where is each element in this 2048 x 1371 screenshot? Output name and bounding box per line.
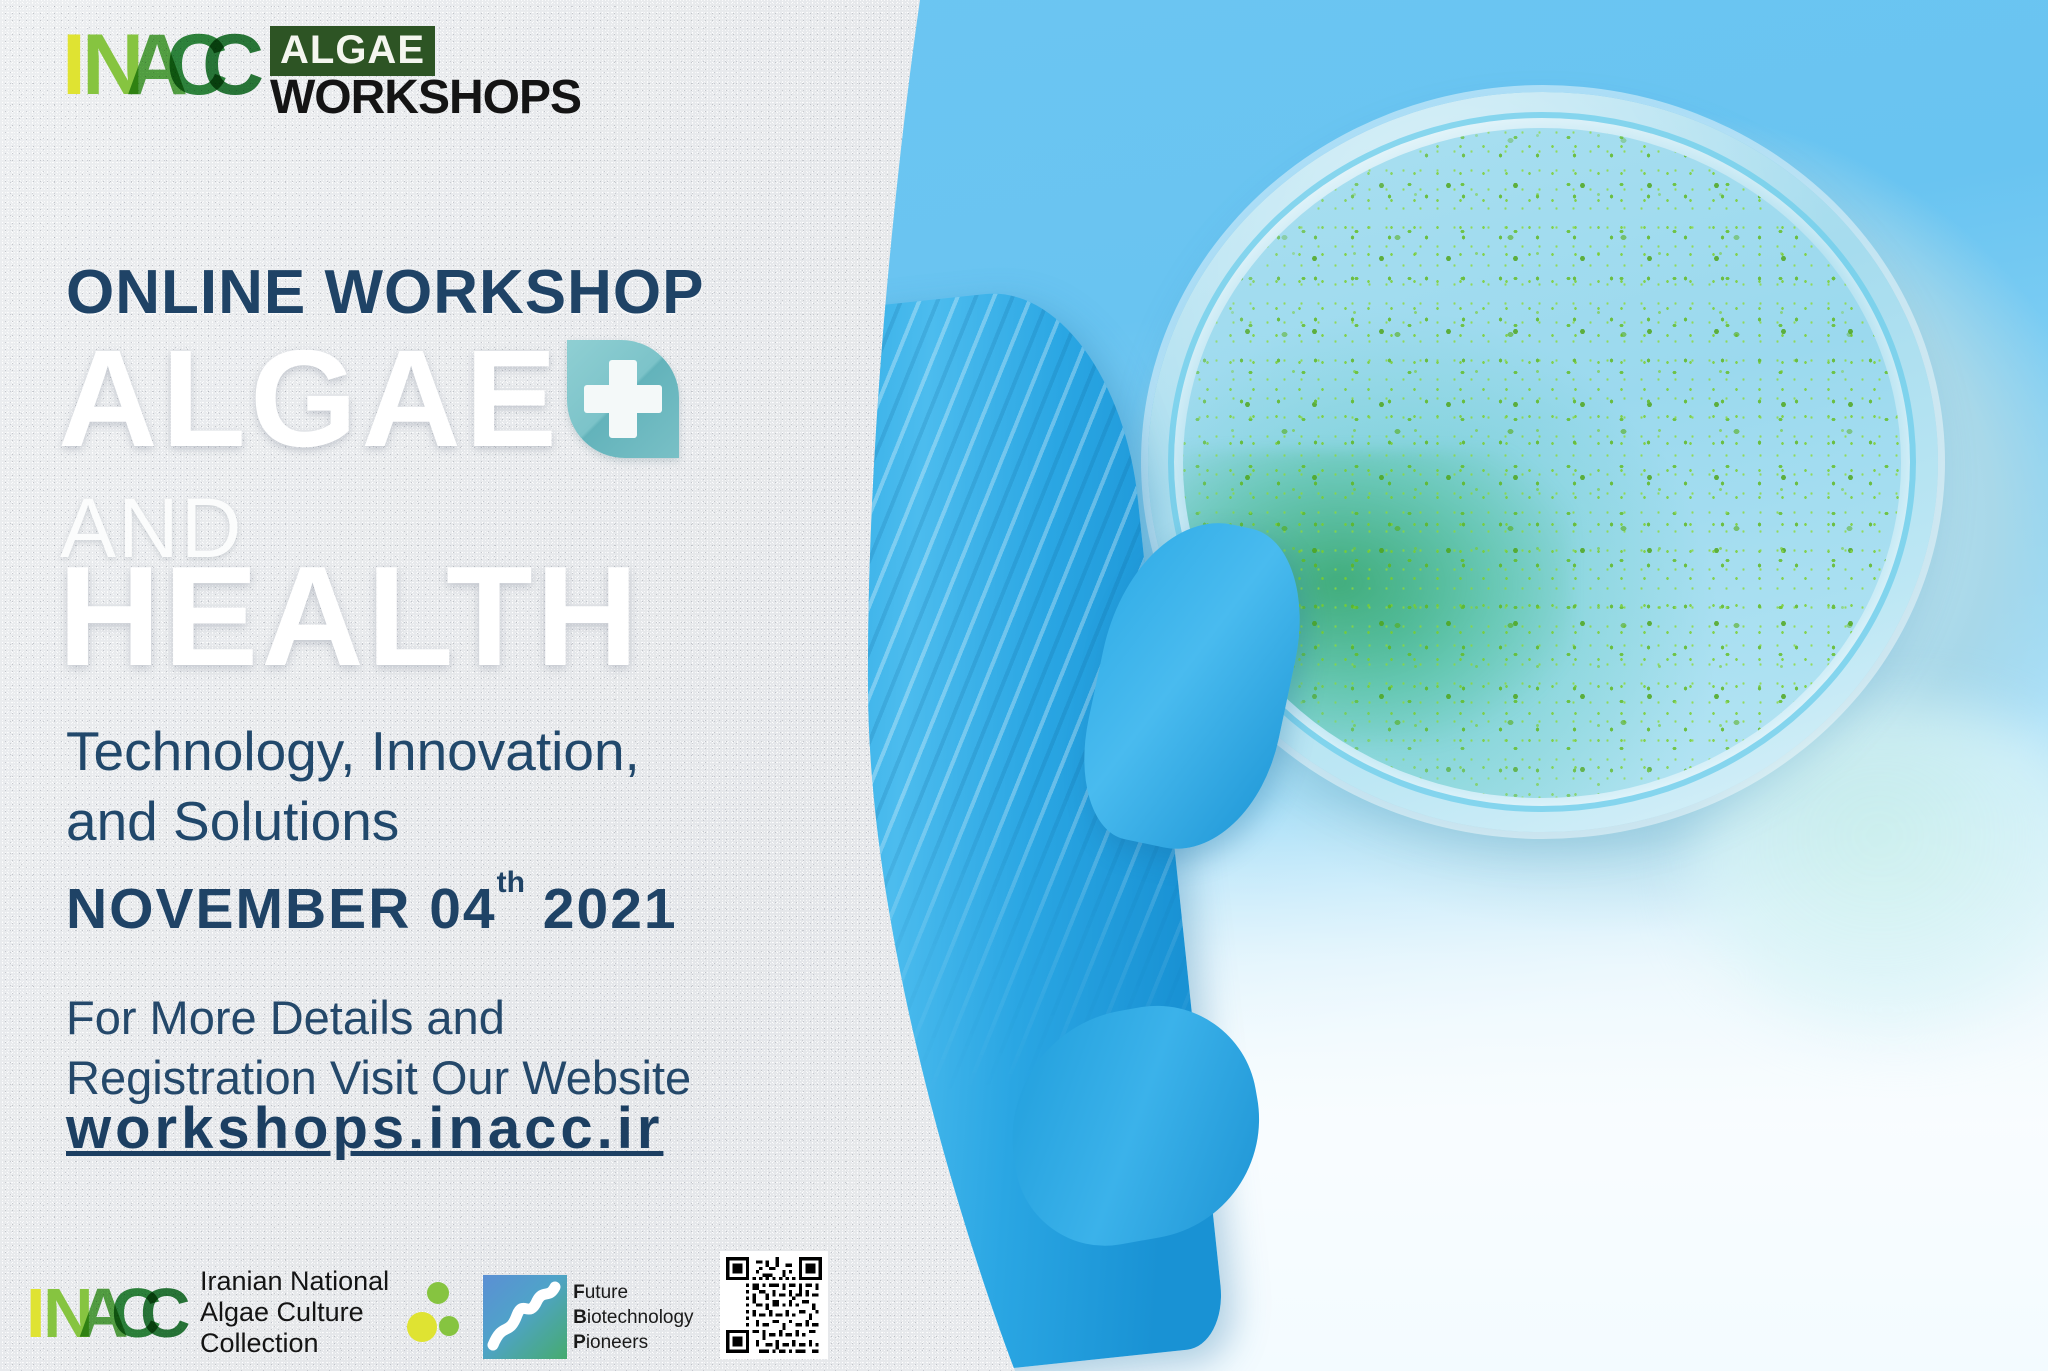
poster-root: I N A C C ALGAE WORKSHOPS ONLINE WORKSHO… — [0, 0, 2048, 1371]
inacc-name-line2: Algae Culture — [200, 1297, 389, 1328]
fbp-p: P — [573, 1332, 586, 1353]
inacc-footer-letter-c2: C — [140, 1278, 186, 1348]
fbp-squiggle-icon — [483, 1275, 567, 1359]
date-year: 2021 — [543, 877, 678, 941]
fbp-name: Future Biotechnology Pioneers — [573, 1280, 693, 1355]
workshops-label: WORKSHOPS — [270, 74, 581, 122]
date-month: NOVEMBER — [66, 877, 411, 941]
fbp-biotechnology: iotechnology — [587, 1307, 694, 1328]
event-date: NOVEMBER 04th 2021 — [66, 870, 678, 938]
inacc-footer-logo: I N A C C Iranian National Algae Culture… — [26, 1266, 457, 1359]
inacc-name-line3: Collection — [200, 1328, 389, 1359]
inacc-logo-mark: I N A C C — [62, 22, 258, 108]
fbp-logo: Future Biotechnology Pioneers — [483, 1275, 693, 1359]
title-word-algae: ALGAE — [58, 330, 561, 468]
qr-code[interactable] — [720, 1251, 828, 1359]
fbp-future: uture — [585, 1282, 628, 1303]
subtitle: Technology, Innovation, and Solutions — [66, 716, 706, 856]
inacc-letter-c2: C — [202, 22, 258, 108]
title-line-algae: ALGAE — [58, 330, 679, 468]
petri-dish-agar — [1183, 128, 1901, 798]
algae-workshops-wordmark: ALGAE WORKSHOPS — [270, 22, 581, 122]
algae-colonies-layer-2 — [1183, 128, 1901, 798]
fbp-pioneers: ioneers — [586, 1332, 648, 1353]
inacc-full-name: Iranian National Algae Culture Collectio… — [200, 1266, 389, 1359]
inacc-footer-letter-i: I — [26, 1278, 40, 1348]
kicker-online-workshop: ONLINE WORKSHOP — [66, 262, 704, 324]
date-day: 04 — [429, 877, 496, 941]
inacc-dots-icon — [407, 1282, 457, 1344]
fbp-f: F — [573, 1282, 585, 1303]
algae-badge-label: ALGAE — [270, 26, 435, 76]
date-ordinal: th — [497, 866, 525, 899]
inacc-name-line1: Iranian National — [200, 1266, 389, 1297]
inacc-letter-i: I — [62, 22, 80, 108]
title-word-health: HEALTH — [58, 546, 641, 688]
inacc-footer-mark: I N A C C — [26, 1278, 186, 1348]
registration-note: For More Details and Registration Visit … — [66, 988, 726, 1108]
website-link[interactable]: workshops.inacc.ir — [66, 1100, 663, 1158]
header-logo: I N A C C ALGAE WORKSHOPS — [62, 22, 581, 122]
footer-bar: I N A C C Iranian National Algae Culture… — [26, 1251, 828, 1359]
leaf-plus-icon — [567, 340, 679, 458]
fbp-b: B — [573, 1307, 587, 1328]
